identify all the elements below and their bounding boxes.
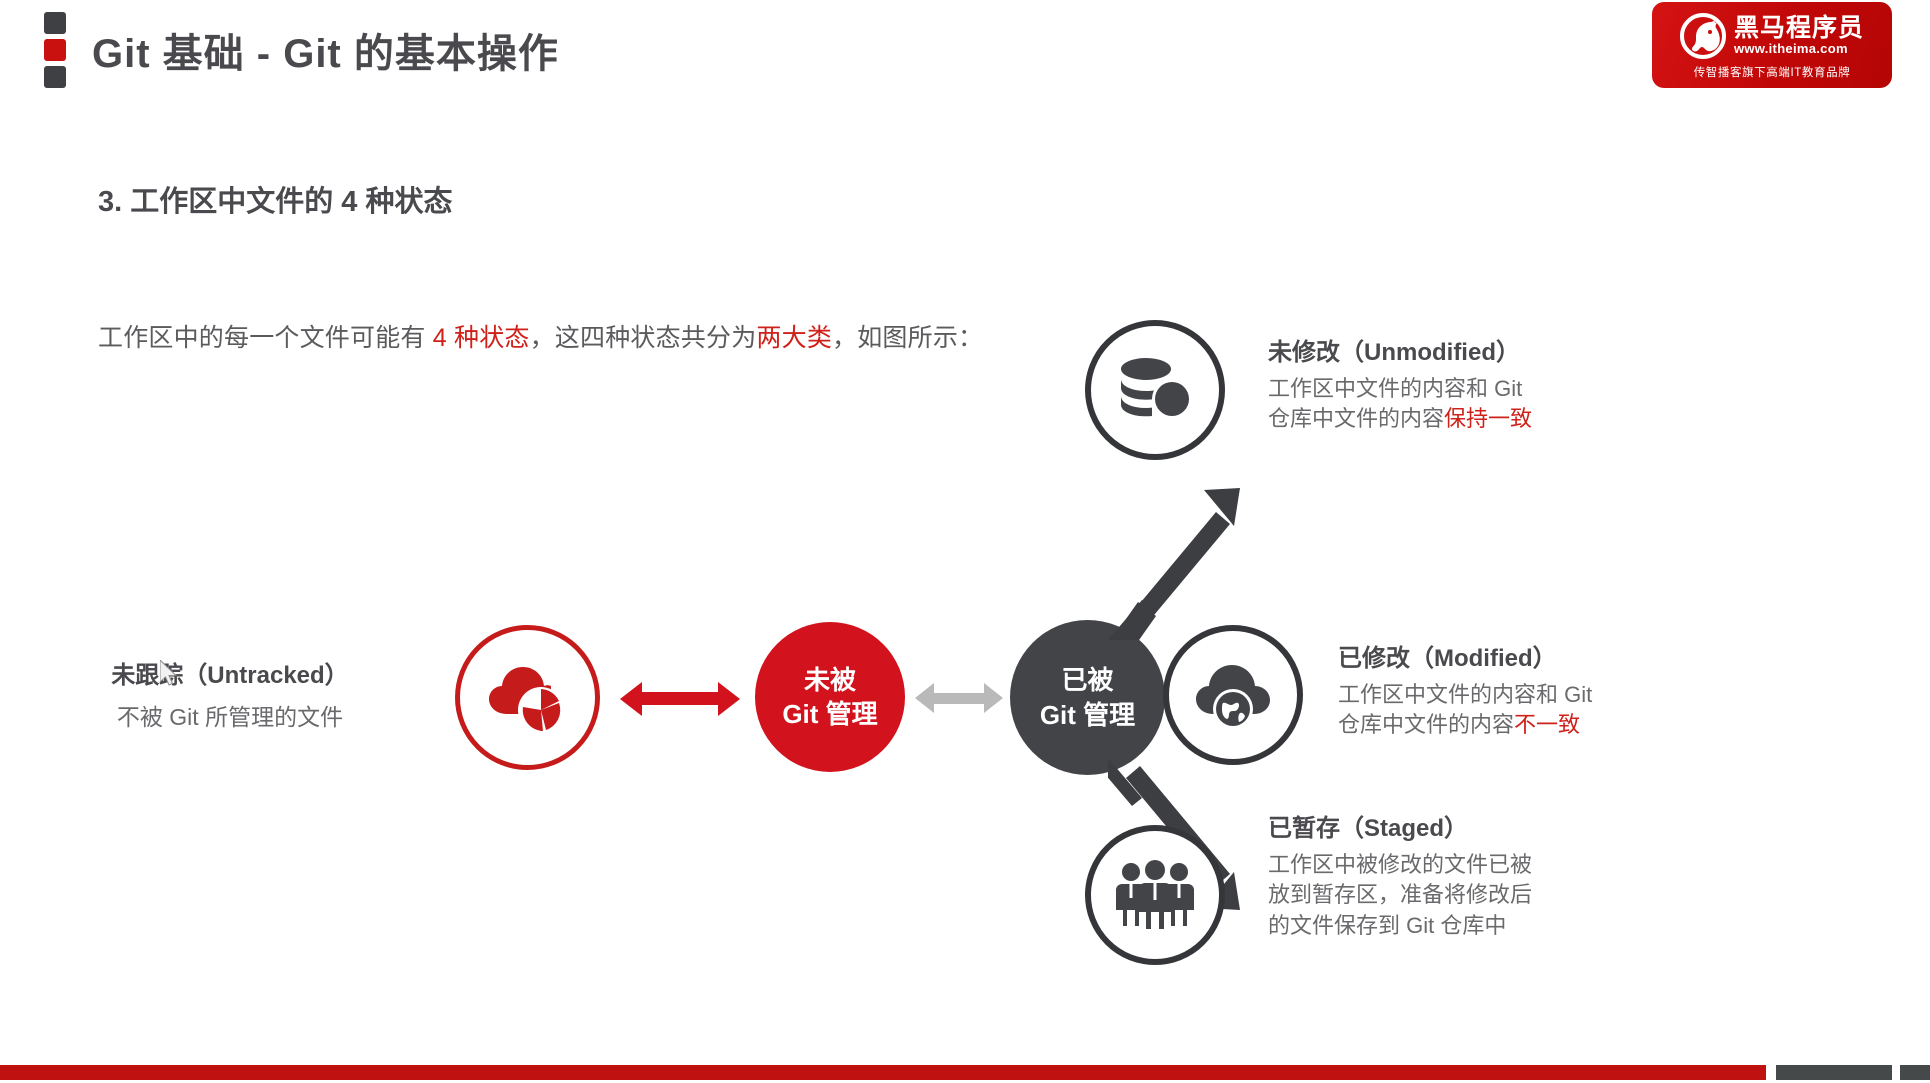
cloud-pie-icon [483, 658, 573, 738]
modified-desc-line-2: 仓库中文件的内容不一致 [1338, 710, 1592, 740]
modified-text-block: 已修改（Modified） 工作区中文件的内容和 Git 仓库中文件的内容不一致 [1338, 638, 1592, 741]
arrow-head-right [984, 683, 1003, 713]
arrow-shaft [640, 692, 720, 705]
slide: Git 基础 - Git 的基本操作 黑马程序员 www.itheima.com… [0, 0, 1930, 1083]
modified-node[interactable] [1163, 625, 1303, 765]
arrow-shaft [932, 693, 986, 704]
logo-text-group: 黑马程序员 www.itheima.com [1734, 15, 1864, 57]
arrow-unmanaged-to-managed [915, 683, 1003, 715]
unmodified-text-block: 未修改（Unmodified） 工作区中文件的内容和 Git 仓库中文件的内容保… [1268, 332, 1532, 435]
intro-highlight-2: 两大类 [756, 324, 832, 352]
logo-brand-name: 黑马程序员 [1734, 15, 1864, 41]
logo-tagline: 传智播客旗下高端IT教育品牌 [1694, 64, 1851, 80]
bottom-progress-bar[interactable] [0, 1061, 1930, 1083]
untracked-node[interactable] [455, 625, 600, 770]
logo-url: www.itheima.com [1734, 41, 1848, 57]
progress-bar-played[interactable] [0, 1065, 1766, 1080]
modified-desc-highlight: 不一致 [1514, 712, 1580, 737]
staged-node[interactable] [1085, 825, 1225, 965]
untracked-label-group: 未跟踪（Untracked） 不被 Git 所管理的文件 [70, 655, 390, 732]
staged-desc-line-2: 放到暂存区，准备将修改后 [1268, 880, 1532, 910]
section-heading: 3. 工作区中文件的 4 种状态 [98, 178, 453, 220]
unmodified-desc-line-2: 仓库中文件的内容保持一致 [1268, 404, 1532, 434]
staged-text-block: 已暂存（Staged） 工作区中被修改的文件已被 放到暂存区，准备将修改后 的文… [1268, 808, 1532, 941]
state-diagram: 未跟踪（Untracked） 不被 Git 所管理的文件 未被 Git 管理 [0, 380, 1930, 1020]
staged-title: 已暂存（Staged） [1268, 808, 1532, 843]
arrow-head-left [620, 682, 642, 716]
cloud-globe-icon [1193, 659, 1273, 731]
intro-highlight-1: 4 种状态 [433, 324, 530, 352]
modified-title: 已修改（Modified） [1338, 638, 1592, 673]
progress-bar-segment-2[interactable] [1900, 1065, 1930, 1080]
modified-desc: 工作区中文件的内容和 Git 仓库中文件的内容不一致 [1338, 680, 1592, 741]
arrow-managed-to-unmodified [1108, 450, 1258, 640]
unmodified-title: 未修改（Unmodified） [1268, 332, 1532, 367]
unmanaged-line-2: Git 管理 [782, 697, 877, 731]
title-marker-icon [44, 12, 66, 88]
database-stack-icon [1116, 355, 1194, 425]
managed-line-2: Git 管理 [1040, 698, 1135, 732]
marker-square-accent [44, 39, 66, 61]
intro-part-2: ，这四种状态共分为 [530, 324, 757, 352]
unmodified-node[interactable] [1085, 320, 1225, 460]
intro-part-1: 工作区中的每一个文件可能有 [98, 324, 433, 352]
page-title: Git 基础 - Git 的基本操作 [92, 21, 559, 79]
slide-header: Git 基础 - Git 的基本操作 [44, 12, 559, 88]
unmanaged-node[interactable]: 未被 Git 管理 [755, 622, 905, 772]
staged-desc-line-3: 的文件保存到 Git 仓库中 [1268, 911, 1532, 941]
unmodified-desc-line-1: 工作区中文件的内容和 Git [1268, 374, 1532, 404]
staged-desc-line-1: 工作区中被修改的文件已被 [1268, 850, 1532, 880]
arrow-head-right [718, 682, 740, 716]
intro-paragraph: 工作区中的每一个文件可能有 4 种状态，这四种状态共分为两大类，如图所示： [98, 318, 983, 354]
horse-head-icon [1680, 13, 1726, 59]
untracked-title: 未跟踪（Untracked） [70, 655, 390, 690]
unmanaged-node-label: 未被 Git 管理 [782, 663, 877, 732]
marker-square-top [44, 12, 66, 34]
unmodified-desc-highlight: 保持一致 [1444, 406, 1532, 431]
marker-square-bottom [44, 66, 66, 88]
three-people-icon [1114, 860, 1196, 930]
managed-node[interactable]: 已被 Git 管理 [1010, 620, 1165, 775]
untracked-desc: 不被 Git 所管理的文件 [70, 698, 390, 732]
unmodified-desc: 工作区中文件的内容和 Git 仓库中文件的内容保持一致 [1268, 374, 1532, 435]
staged-desc: 工作区中被修改的文件已被 放到暂存区，准备将修改后 的文件保存到 Git 仓库中 [1268, 850, 1532, 941]
unmodified-desc-plain: 仓库中文件的内容 [1268, 406, 1444, 431]
unmanaged-line-1: 未被 [782, 663, 877, 697]
progress-bar-segment-1[interactable] [1776, 1065, 1892, 1080]
intro-part-3: ，如图所示： [832, 324, 983, 352]
brand-logo: 黑马程序员 www.itheima.com 传智播客旗下高端IT教育品牌 [1652, 2, 1892, 88]
arrow-untracked-to-unmanaged [620, 682, 740, 716]
managed-node-label: 已被 Git 管理 [1040, 663, 1135, 732]
modified-desc-plain: 仓库中文件的内容 [1338, 712, 1514, 737]
modified-desc-line-1: 工作区中文件的内容和 Git [1338, 680, 1592, 710]
logo-top-row: 黑马程序员 www.itheima.com [1680, 13, 1864, 59]
managed-line-1: 已被 [1040, 663, 1135, 697]
